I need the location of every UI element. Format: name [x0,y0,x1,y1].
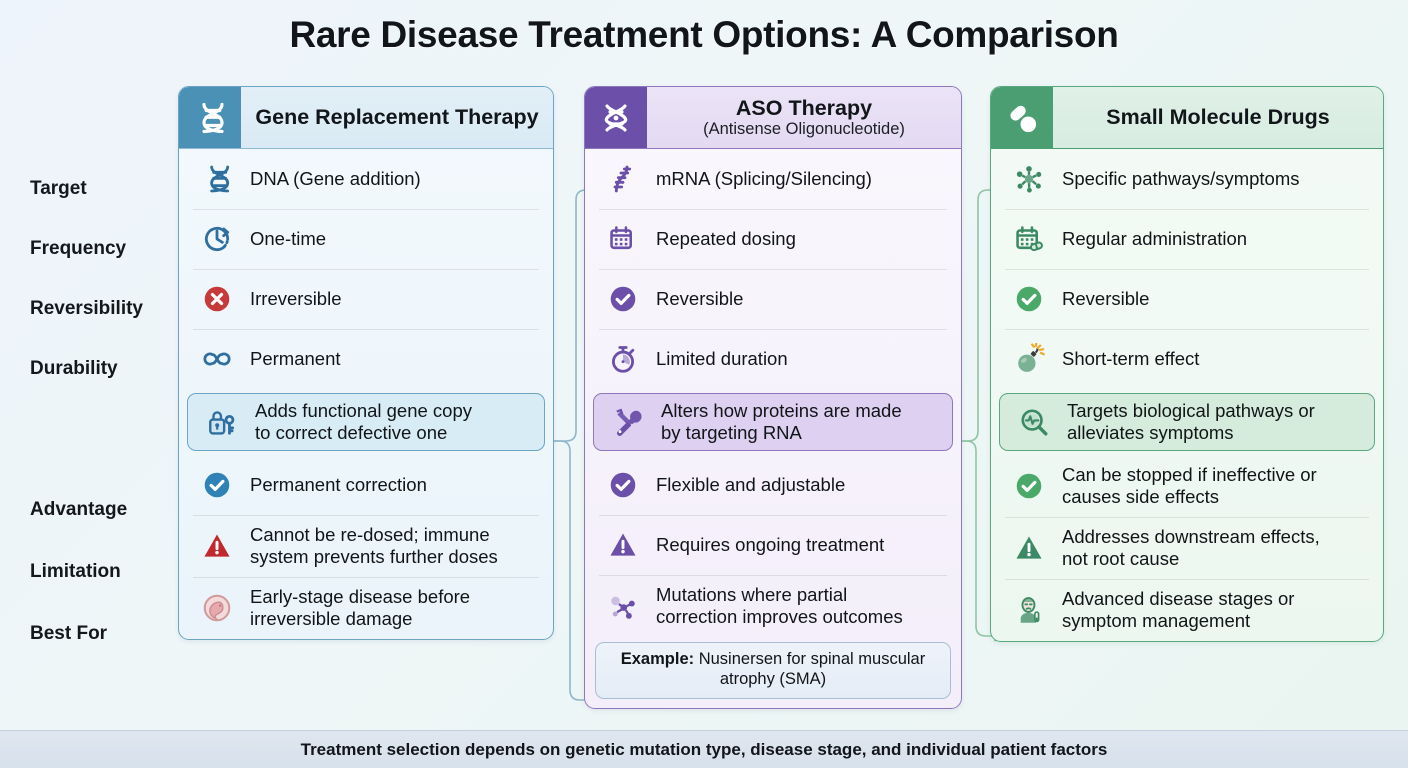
row-text: Regular administration [1053,228,1247,250]
molecule-node-icon [1005,163,1053,195]
infinity-icon [193,343,241,375]
stopwatch-icon [599,343,647,375]
patient-icon [1005,594,1053,626]
dna-strand-icon [585,87,647,148]
column-header-gene: Gene Replacement Therapy [179,87,553,149]
row-text: Limited duration [647,348,788,370]
column-title: ASO Therapy [736,96,872,120]
dna-helix-icon [193,163,241,195]
row-smallmolecule-2[interactable]: Reversible [991,269,1383,329]
row-smallmolecule-3[interactable]: Short-term effect [991,329,1383,389]
column-aso-therapy[interactable]: ASO Therapy(Antisense Oligonucleotide)mR… [584,86,962,709]
column-gene-replacement-therapy[interactable]: Gene Replacement TherapyDNA (Gene additi… [178,86,554,640]
row-text: Requires ongoing treatment [647,534,884,556]
column-subtitle: (Antisense Oligonucleotide) [703,120,905,138]
pill-capsule-icon [991,87,1053,148]
row-label-limitation: Limitation [30,561,121,583]
check-circle-icon [1005,470,1053,502]
row-gene-3[interactable]: Permanent [179,329,553,389]
row-text: Mutations where partial correction impro… [647,584,903,628]
row-gene-7[interactable]: Early-stage disease before irreversible … [179,577,553,639]
calendar-pill-icon [1005,223,1053,255]
molecule-icon [599,590,647,622]
row-gene-5[interactable]: Permanent correction [179,455,553,515]
row-aso-7[interactable]: Mutations where partial correction impro… [585,575,961,637]
row-text: Specific pathways/symptoms [1053,168,1300,190]
tools-icon [604,406,652,438]
row-aso-3[interactable]: Limited duration [585,329,961,389]
row-text: Reversible [647,288,743,310]
row-gene-6[interactable]: Cannot be re-dosed; immune system preven… [179,515,553,577]
row-gene-4[interactable]: Adds functional gene copy to correct def… [187,393,545,451]
magnifier-pulse-icon [1010,406,1058,438]
row-gene-0[interactable]: DNA (Gene addition) [179,149,553,209]
row-text: One-time [241,228,326,250]
row-text: Can be stopped if ineffective or causes … [1053,464,1317,508]
row-label-reversibility: Reversibility [30,298,143,320]
row-text: Flexible and adjustable [647,474,845,496]
check-circle-icon [193,469,241,501]
row-text: Repeated dosing [647,228,796,250]
rna-strand-icon [599,163,647,195]
row-smallmolecule-5[interactable]: Can be stopped if ineffective or causes … [991,455,1383,517]
row-text: Early-stage disease before irreversible … [241,586,470,630]
column-title: Small Molecule Drugs [1106,105,1329,129]
row-text: Adds functional gene copy to correct def… [246,400,472,444]
row-aso-4[interactable]: Alters how proteins are made by targetin… [593,393,953,451]
warning-triangle-icon [193,530,241,562]
check-circle-icon [599,283,647,315]
row-gene-2[interactable]: Irreversible [179,269,553,329]
column-header-aso: ASO Therapy(Antisense Oligonucleotide) [585,87,961,149]
row-text: Short-term effect [1053,348,1199,370]
row-smallmolecule-7[interactable]: Advanced disease stages or symptom manag… [991,579,1383,641]
row-smallmolecule-6[interactable]: Addresses downstream effects, not root c… [991,517,1383,579]
row-text: Permanent correction [241,474,427,496]
calendar-icon [599,223,647,255]
row-aso-0[interactable]: mRNA (Splicing/Silencing) [585,149,961,209]
row-aso-2[interactable]: Reversible [585,269,961,329]
column-small-molecule-drugs[interactable]: Small Molecule DrugsSpecific pathways/sy… [990,86,1384,642]
row-label-advantage: Advantage [30,499,127,521]
clock-arrow-icon [193,223,241,255]
example-text: Nusinersen for spinal muscular atrophy (… [694,650,925,688]
row-aso-5[interactable]: Flexible and adjustable [585,455,961,515]
column-title: Gene Replacement Therapy [255,105,538,129]
row-text: DNA (Gene addition) [241,168,421,190]
row-text: Addresses downstream effects, not root c… [1053,526,1320,570]
lock-key-icon [198,406,246,438]
row-smallmolecule-0[interactable]: Specific pathways/symptoms [991,149,1383,209]
row-text: Cannot be re-dosed; immune system preven… [241,524,498,568]
row-text: Targets biological pathways or alleviate… [1058,400,1315,444]
example-card: Example: Nusinersen for spinal muscular … [595,642,951,699]
row-smallmolecule-1[interactable]: Regular administration [991,209,1383,269]
row-label-target: Target [30,178,87,200]
column-header-smallmolecule: Small Molecule Drugs [991,87,1383,149]
row-label-best-for: Best For [30,623,107,645]
row-aso-1[interactable]: Repeated dosing [585,209,961,269]
row-text: Alters how proteins are made by targetin… [652,400,902,444]
footer-note: Treatment selection depends on genetic m… [0,730,1408,768]
x-circle-icon [193,283,241,315]
row-text: mRNA (Splicing/Silencing) [647,168,872,190]
row-label-durability: Durability [30,358,118,380]
dna-helix-icon [179,87,241,148]
bomb-icon [1005,343,1053,375]
row-text: Irreversible [241,288,342,310]
row-text: Permanent [241,348,341,370]
page-title: Rare Disease Treatment Options: A Compar… [0,14,1408,56]
warning-triangle-icon [1005,532,1053,564]
row-text: Advanced disease stages or symptom manag… [1053,588,1294,632]
row-aso-6[interactable]: Requires ongoing treatment [585,515,961,575]
warning-triangle-icon [599,529,647,561]
example-label: Example: [621,650,694,668]
embryo-icon [193,592,241,624]
row-label-rail: TargetFrequencyReversibilityDurabilityAd… [0,0,178,768]
row-smallmolecule-4[interactable]: Targets biological pathways or alleviate… [999,393,1375,451]
check-circle-icon [599,469,647,501]
row-text: Reversible [1053,288,1149,310]
row-label-frequency: Frequency [30,238,126,260]
row-gene-1[interactable]: One-time [179,209,553,269]
check-circle-icon [1005,283,1053,315]
